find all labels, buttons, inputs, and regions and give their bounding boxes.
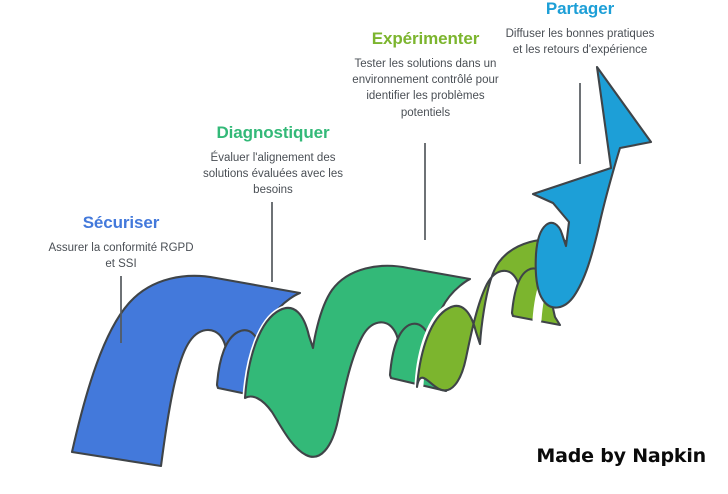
step-title-partager: Partager bbox=[504, 0, 656, 19]
step-label-securiser: Sécuriser Assurer la conformité RGPD et … bbox=[47, 214, 195, 272]
step-title-diagnostiquer: Diagnostiquer bbox=[197, 124, 349, 143]
diagram-stage: Sécuriser Assurer la conformité RGPD et … bbox=[0, 0, 728, 494]
napkin-watermark: Made by Napkin bbox=[536, 445, 706, 467]
step-description-partager: Diffuser les bonnes pratiques et les ret… bbox=[504, 26, 656, 59]
step-label-experimenter: Expérimenter Tester les solutions dans u… bbox=[344, 30, 507, 121]
step-label-diagnostiquer: Diagnostiquer Évaluer l'alignement des s… bbox=[197, 124, 349, 199]
step-description-diagnostiquer: Évaluer l'alignement des solutions évalu… bbox=[197, 150, 349, 199]
step-label-partager: Partager Diffuser les bonnes pratiques e… bbox=[504, 0, 656, 58]
step-title-securiser: Sécuriser bbox=[47, 214, 195, 233]
step-description-experimenter: Tester les solutions dans un environneme… bbox=[344, 56, 507, 121]
arrow-head-partager bbox=[533, 67, 651, 308]
step-title-experimenter: Expérimenter bbox=[344, 30, 507, 49]
step-description-securiser: Assurer la conformité RGPD et SSI bbox=[47, 240, 195, 273]
